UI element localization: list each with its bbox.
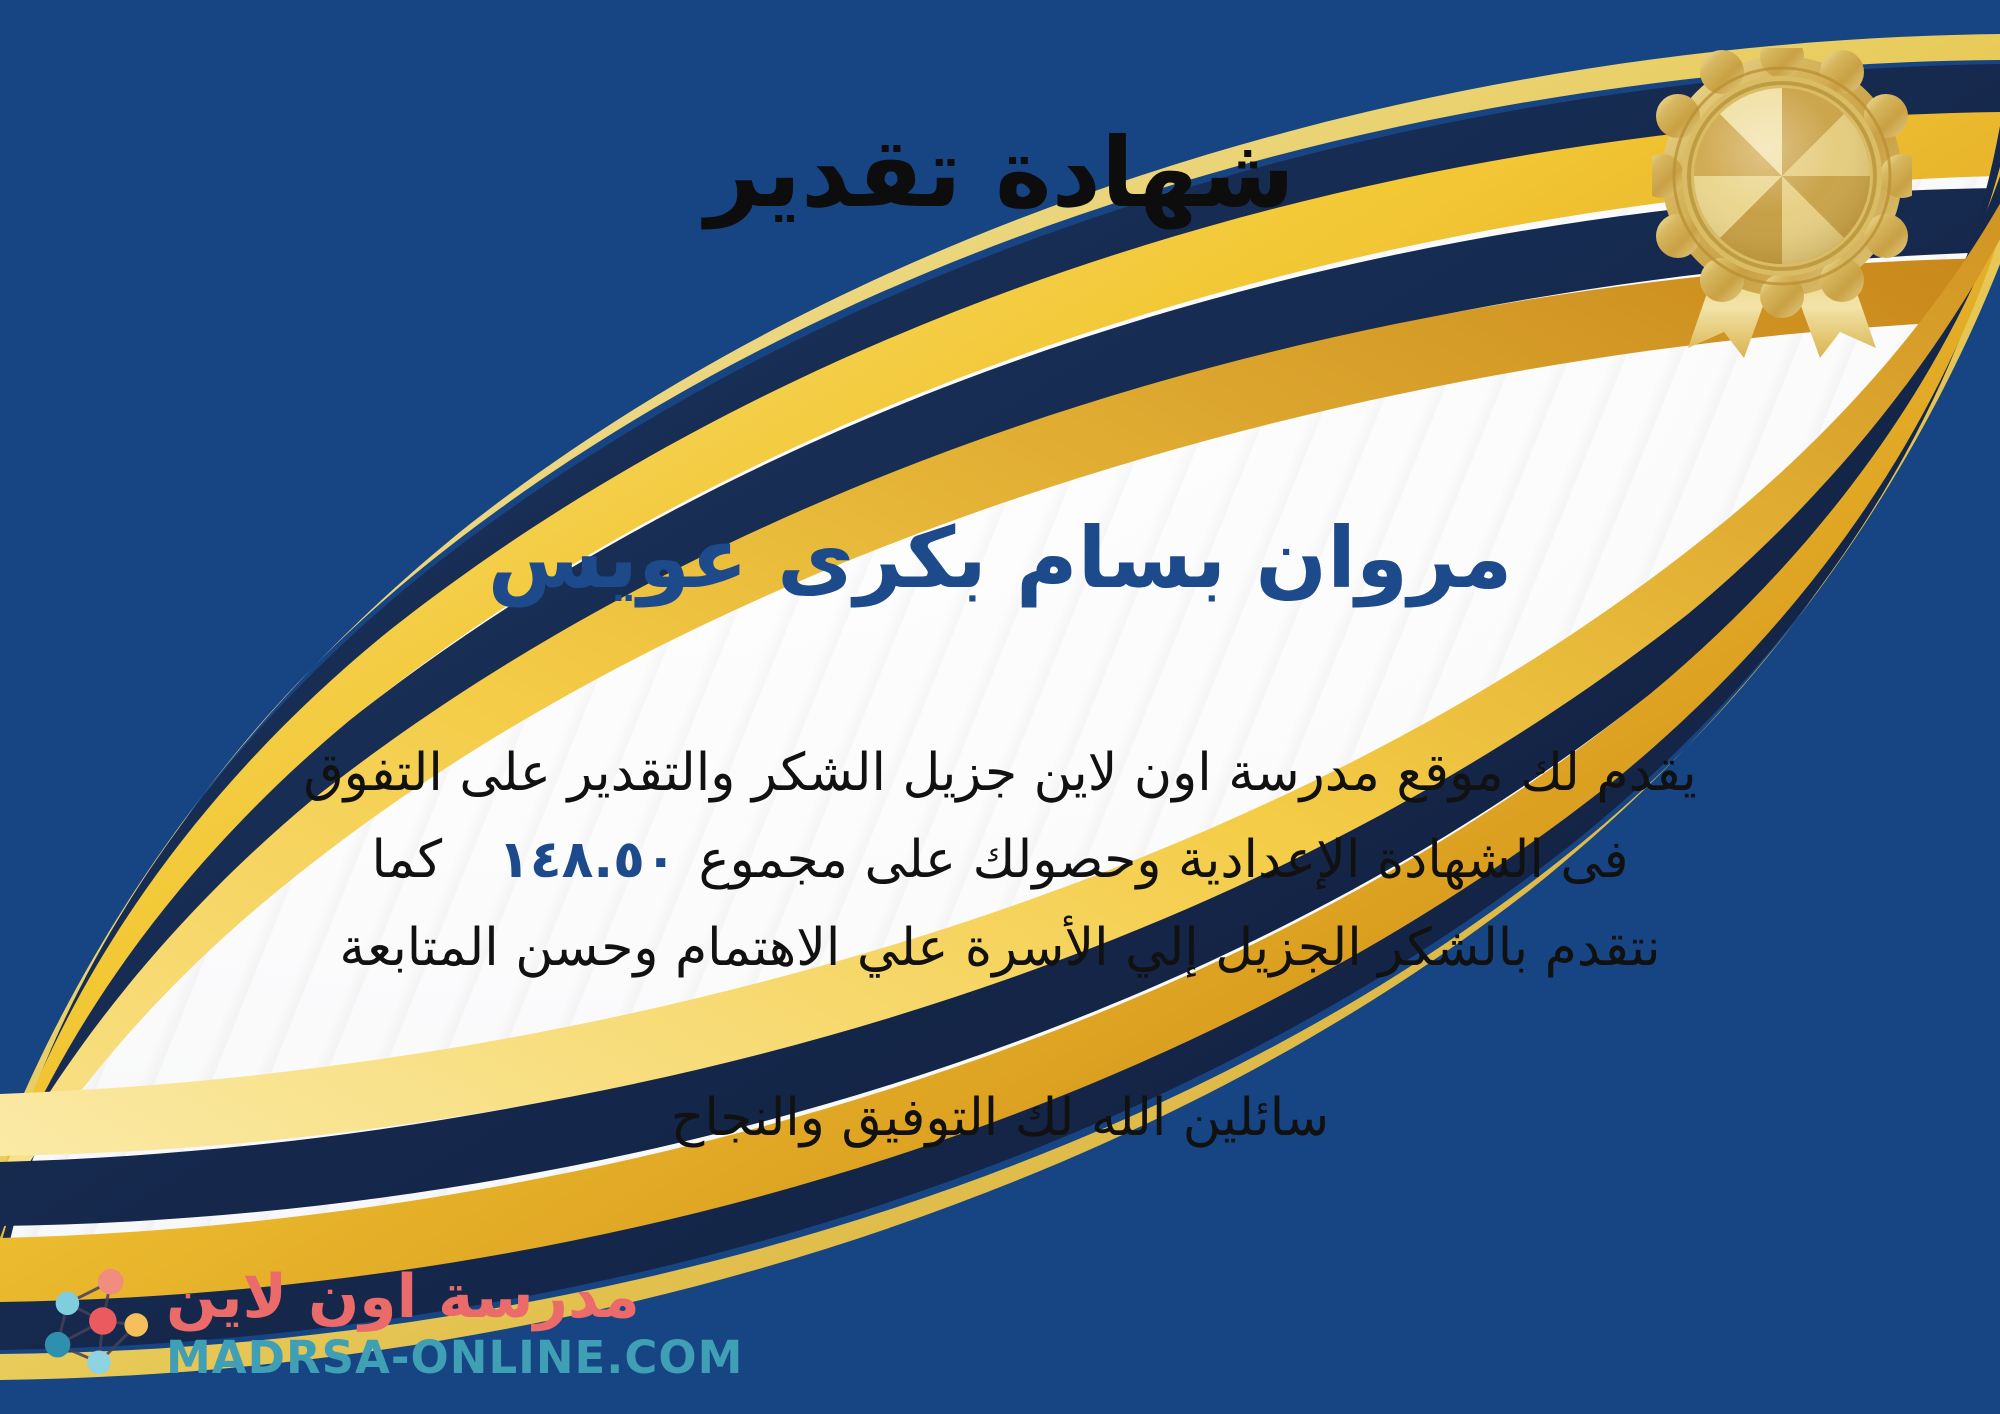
closing-line: سائلين الله لك التوفيق والنجاح bbox=[0, 1088, 2000, 1148]
brand-logo[interactable]: مدرسة اون لاين MADRSA-ONLINE.COM bbox=[34, 1264, 743, 1382]
total-score-value: ١٤٨.٥٠ bbox=[476, 817, 698, 904]
certificate-canvas: شهادة تقدير مروان بسام بكرى عويس يقدم لك… bbox=[0, 0, 2000, 1414]
body-line-2-suffix: كما bbox=[371, 817, 476, 904]
body-line-1: يقدم لك موقع مدرسة اون لاين جزيل الشكر و… bbox=[70, 730, 1930, 817]
network-nodes-icon bbox=[34, 1264, 152, 1382]
brand-website: MADRSA-ONLINE.COM bbox=[166, 1335, 743, 1380]
body-line-3: نتقدم بالشكر الجزيل إلي الأسرة علي الاهت… bbox=[70, 905, 1930, 992]
body-line-2: فى الشهادة الإعدادية وحصولك على مجموع١٤٨… bbox=[70, 817, 1930, 904]
body-line-2-prefix: فى الشهادة الإعدادية وحصولك على مجموع bbox=[699, 830, 1629, 890]
gold-award-medal-icon bbox=[1652, 48, 1912, 358]
brand-text: مدرسة اون لاين MADRSA-ONLINE.COM bbox=[166, 1267, 743, 1380]
brand-arabic-name: مدرسة اون لاين bbox=[166, 1267, 640, 1327]
recipient-name: مروان بسام بكرى عويس bbox=[0, 508, 2000, 609]
certificate-body: يقدم لك موقع مدرسة اون لاين جزيل الشكر و… bbox=[70, 730, 1930, 992]
